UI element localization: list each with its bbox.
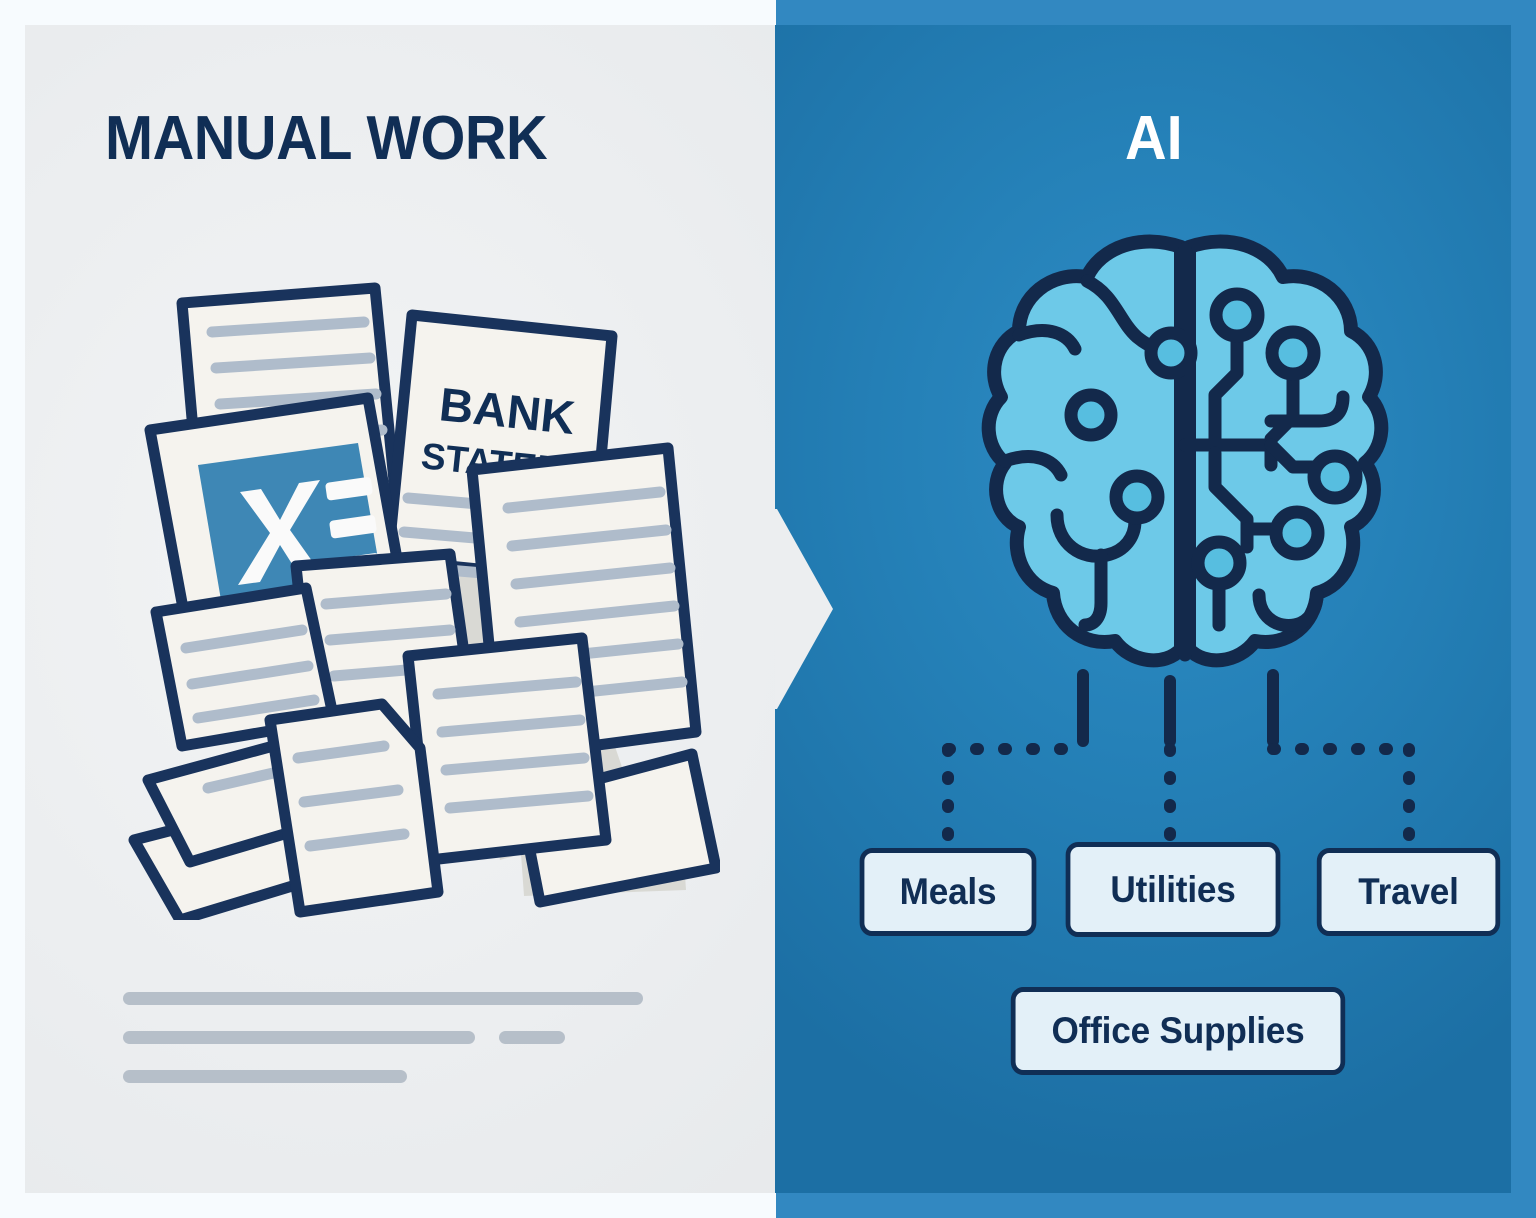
ai-brain-icon: .bf { fill:#6DC9E8; stroke:#13294B; stro… [975, 225, 1395, 695]
pill-travel[interactable]: Travel [1317, 848, 1500, 936]
placeholder-bar-row [123, 1031, 683, 1044]
manual-work-panel: MANUAL WORK .pg { fill:#F5F3EE; stroke:#… [25, 25, 775, 1193]
transition-arrow-icon [775, 509, 837, 709]
ai-panel: AI .bf { fill:#6DC9E8; stroke:#13294B; s… [775, 25, 1511, 1193]
placeholder-bar-3 [123, 1070, 407, 1083]
infographic-canvas: MANUAL WORK .pg { fill:#F5F3EE; stroke:#… [0, 0, 1536, 1218]
placeholder-text-block [123, 992, 683, 1109]
comparison-card: MANUAL WORK .pg { fill:#F5F3EE; stroke:#… [25, 25, 1511, 1193]
placeholder-bar-2a [123, 1031, 475, 1044]
placeholder-bar-2b [499, 1031, 565, 1044]
plain-document-bottom-right [408, 638, 606, 860]
plain-document-bottom-center [270, 704, 438, 912]
placeholder-bar-1 [123, 992, 643, 1005]
manual-work-title: MANUAL WORK [105, 103, 547, 174]
ai-title: AI [1125, 103, 1183, 174]
pill-meals[interactable]: Meals [860, 848, 1037, 936]
pill-office-supplies[interactable]: Office Supplies [1011, 987, 1345, 1075]
pill-utilities[interactable]: Utilities [1066, 842, 1281, 937]
document-pile: .pg { fill:#F5F3EE; stroke:#19335C; stro… [120, 280, 720, 920]
